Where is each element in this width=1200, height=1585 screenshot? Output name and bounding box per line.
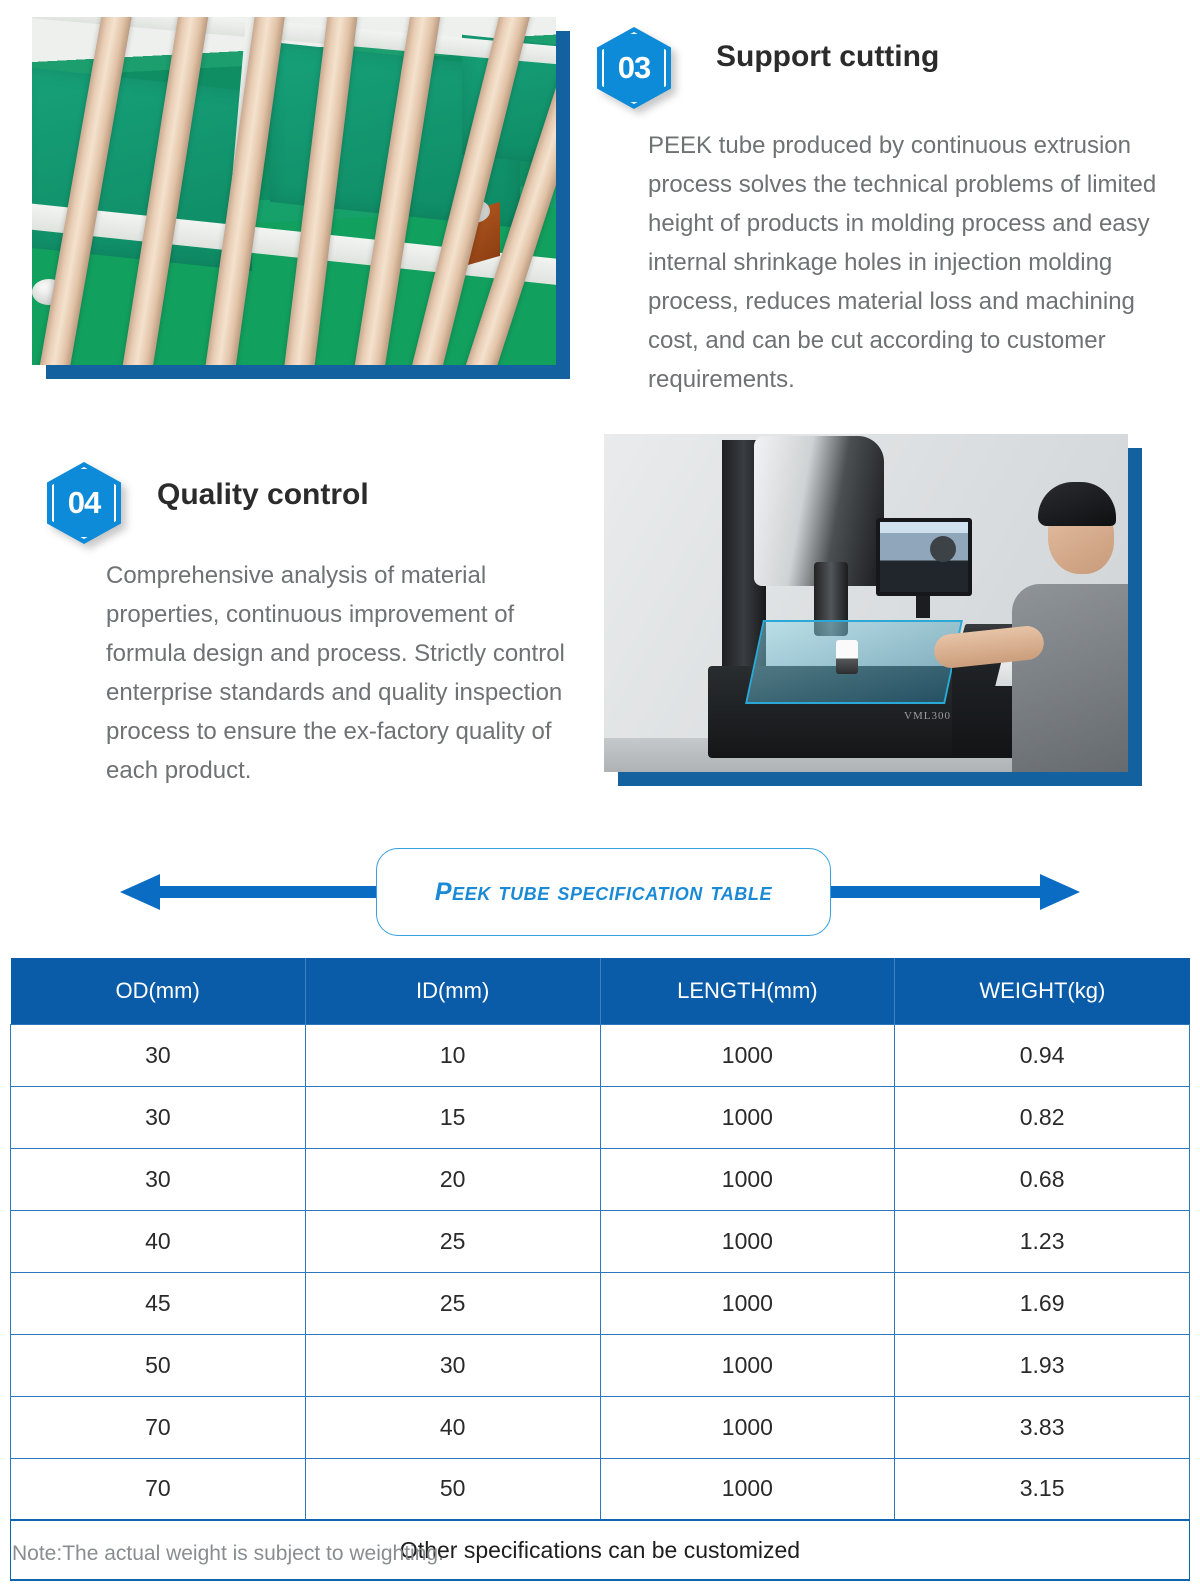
section-body-quality-control: Comprehensive analysis of material prope… [106, 556, 598, 790]
machine-model-label: VML300 [904, 710, 951, 722]
table-row: 50 30 1000 1.93 [11, 1334, 1190, 1396]
frame-accent-bottom [618, 772, 1142, 786]
cell-od: 40 [11, 1210, 306, 1272]
frame-accent-right [556, 31, 570, 379]
product-spec-page: 03 Support cutting PEEK tube produced by… [0, 0, 1200, 1585]
cell-weight: 1.93 [895, 1334, 1190, 1396]
table-row: 70 40 1000 3.83 [11, 1396, 1190, 1458]
cell-length: 1000 [600, 1334, 895, 1396]
cell-od: 70 [11, 1396, 306, 1458]
worker-body [1012, 584, 1128, 772]
spec-table-banner: Peek tube specification table [120, 848, 1080, 936]
arrow-right-icon [1040, 874, 1080, 910]
badge-number: 03 [597, 27, 671, 109]
cell-weight: 0.82 [895, 1086, 1190, 1148]
cell-id: 40 [305, 1396, 600, 1458]
cell-length: 1000 [600, 1210, 895, 1272]
section-badge-03: 03 [597, 27, 671, 109]
table-header-row: OD(mm) ID(mm) LENGTH(mm) WEIGHT(kg) [11, 958, 1190, 1024]
cell-od: 30 [11, 1148, 306, 1210]
cell-length: 1000 [600, 1272, 895, 1334]
section-body-support-cutting: PEEK tube produced by continuous extrusi… [648, 126, 1160, 399]
cell-od: 70 [11, 1458, 306, 1520]
column-header-id: ID(mm) [305, 958, 600, 1024]
table-row: 70 50 1000 3.15 [11, 1458, 1190, 1520]
cell-length: 1000 [600, 1458, 895, 1520]
table-row: 45 25 1000 1.69 [11, 1272, 1190, 1334]
cell-id: 30 [305, 1334, 600, 1396]
cell-od: 30 [11, 1024, 306, 1086]
sample-part [836, 640, 858, 674]
cell-id: 50 [305, 1458, 600, 1520]
cell-id: 25 [305, 1272, 600, 1334]
cell-length: 1000 [600, 1086, 895, 1148]
monitor-stand [916, 596, 930, 618]
peek-tubes-photo [32, 17, 556, 365]
cell-od: 50 [11, 1334, 306, 1396]
cell-id: 15 [305, 1086, 600, 1148]
measurement-blob [930, 536, 956, 562]
cell-weight: 3.15 [895, 1458, 1190, 1520]
cell-weight: 3.83 [895, 1396, 1190, 1458]
cell-id: 10 [305, 1024, 600, 1086]
column-header-weight: WEIGHT(kg) [895, 958, 1190, 1024]
cell-od: 30 [11, 1086, 306, 1148]
section-badge-04: 04 [47, 462, 121, 544]
monitor [876, 518, 972, 596]
banner-pill: Peek tube specification table [376, 848, 831, 936]
frame-accent-bottom [46, 365, 570, 379]
column-header-od: OD(mm) [11, 958, 306, 1024]
table-row: 30 10 1000 0.94 [11, 1024, 1190, 1086]
cell-id: 25 [305, 1210, 600, 1272]
badge-number: 04 [47, 462, 121, 544]
inspection-photo-frame: VML300 [604, 434, 1142, 786]
quality-inspection-photo: VML300 [604, 434, 1128, 772]
banner-title: Peek tube specification table [435, 878, 772, 907]
cell-od: 45 [11, 1272, 306, 1334]
cell-length: 1000 [600, 1396, 895, 1458]
section-title-quality-control: Quality control [157, 478, 369, 512]
table-row: 30 20 1000 0.68 [11, 1148, 1190, 1210]
cell-weight: 1.23 [895, 1210, 1190, 1272]
cell-weight: 0.94 [895, 1024, 1190, 1086]
cell-weight: 1.69 [895, 1272, 1190, 1334]
peek-tube-spec-table: OD(mm) ID(mm) LENGTH(mm) WEIGHT(kg) 30 1… [10, 958, 1190, 1581]
table-weight-note: Note:The actual weight is subject to wei… [12, 1542, 444, 1566]
cell-weight: 0.68 [895, 1148, 1190, 1210]
section-title-support-cutting: Support cutting [716, 40, 939, 74]
arrow-left-icon [120, 874, 160, 910]
cell-length: 1000 [600, 1024, 895, 1086]
frame-accent-right [1128, 448, 1142, 786]
table-row: 30 15 1000 0.82 [11, 1086, 1190, 1148]
tubes-photo-frame [32, 17, 570, 379]
cell-length: 1000 [600, 1148, 895, 1210]
table-row: 40 25 1000 1.23 [11, 1210, 1190, 1272]
column-header-length: LENGTH(mm) [600, 958, 895, 1024]
cell-id: 20 [305, 1148, 600, 1210]
monitor-screen [880, 522, 968, 592]
